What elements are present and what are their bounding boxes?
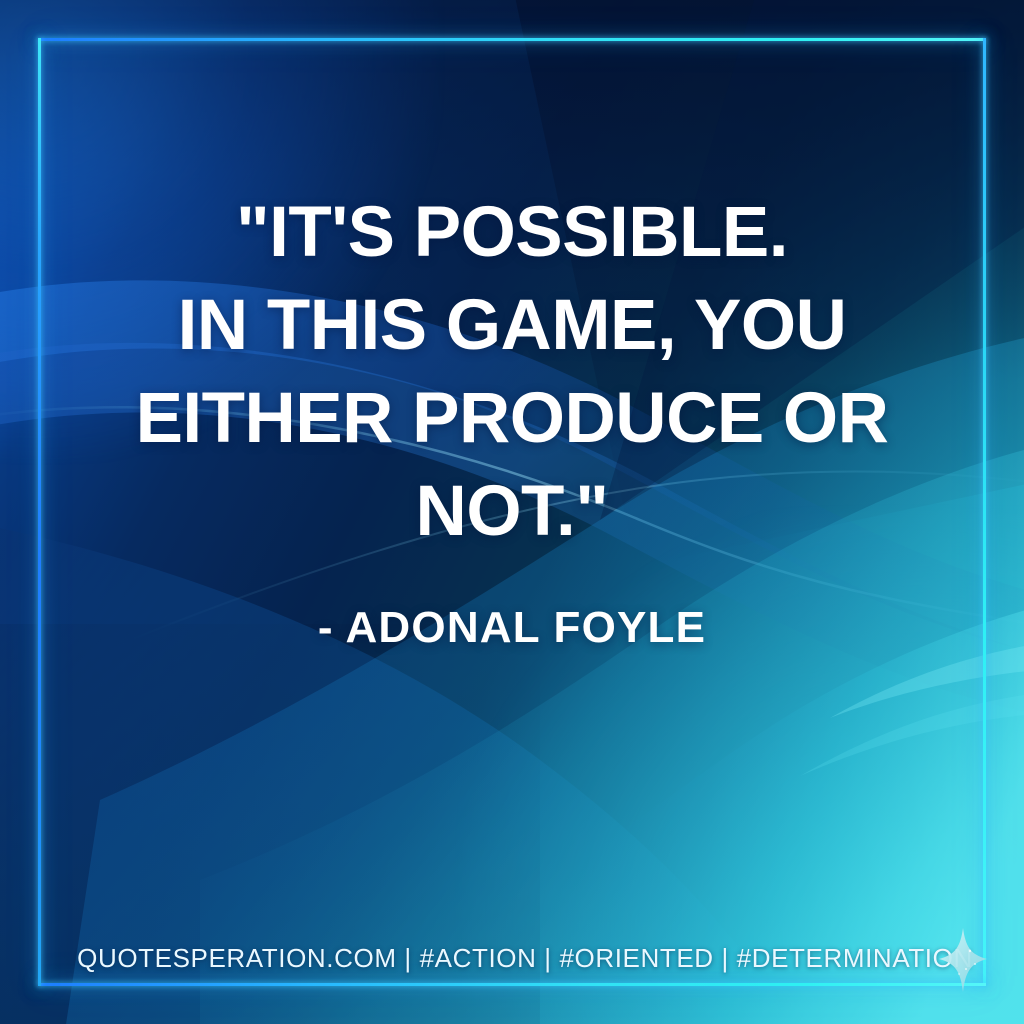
- quote-line-4: NOT.": [60, 465, 964, 558]
- quote-attribution: - ADONAL FOYLE: [0, 598, 1024, 658]
- footer-bar: QUOTESPERATION.COM | #ACTION | #ORIENTED…: [0, 938, 1024, 978]
- quote-card: "IT'S POSSIBLE. IN THIS GAME, YOU EITHER…: [0, 0, 1024, 1024]
- quote-line-1: "IT'S POSSIBLE.: [60, 186, 964, 279]
- quote-line-2: IN THIS GAME, YOU: [60, 279, 964, 372]
- footer-credit-text: QUOTESPERATION.COM | #ACTION | #ORIENTED…: [77, 943, 973, 974]
- sparkle-icon: [932, 928, 994, 992]
- quote-text-block: "IT'S POSSIBLE. IN THIS GAME, YOU EITHER…: [0, 186, 1024, 558]
- quote-line-3: EITHER PRODUCE OR: [60, 372, 964, 465]
